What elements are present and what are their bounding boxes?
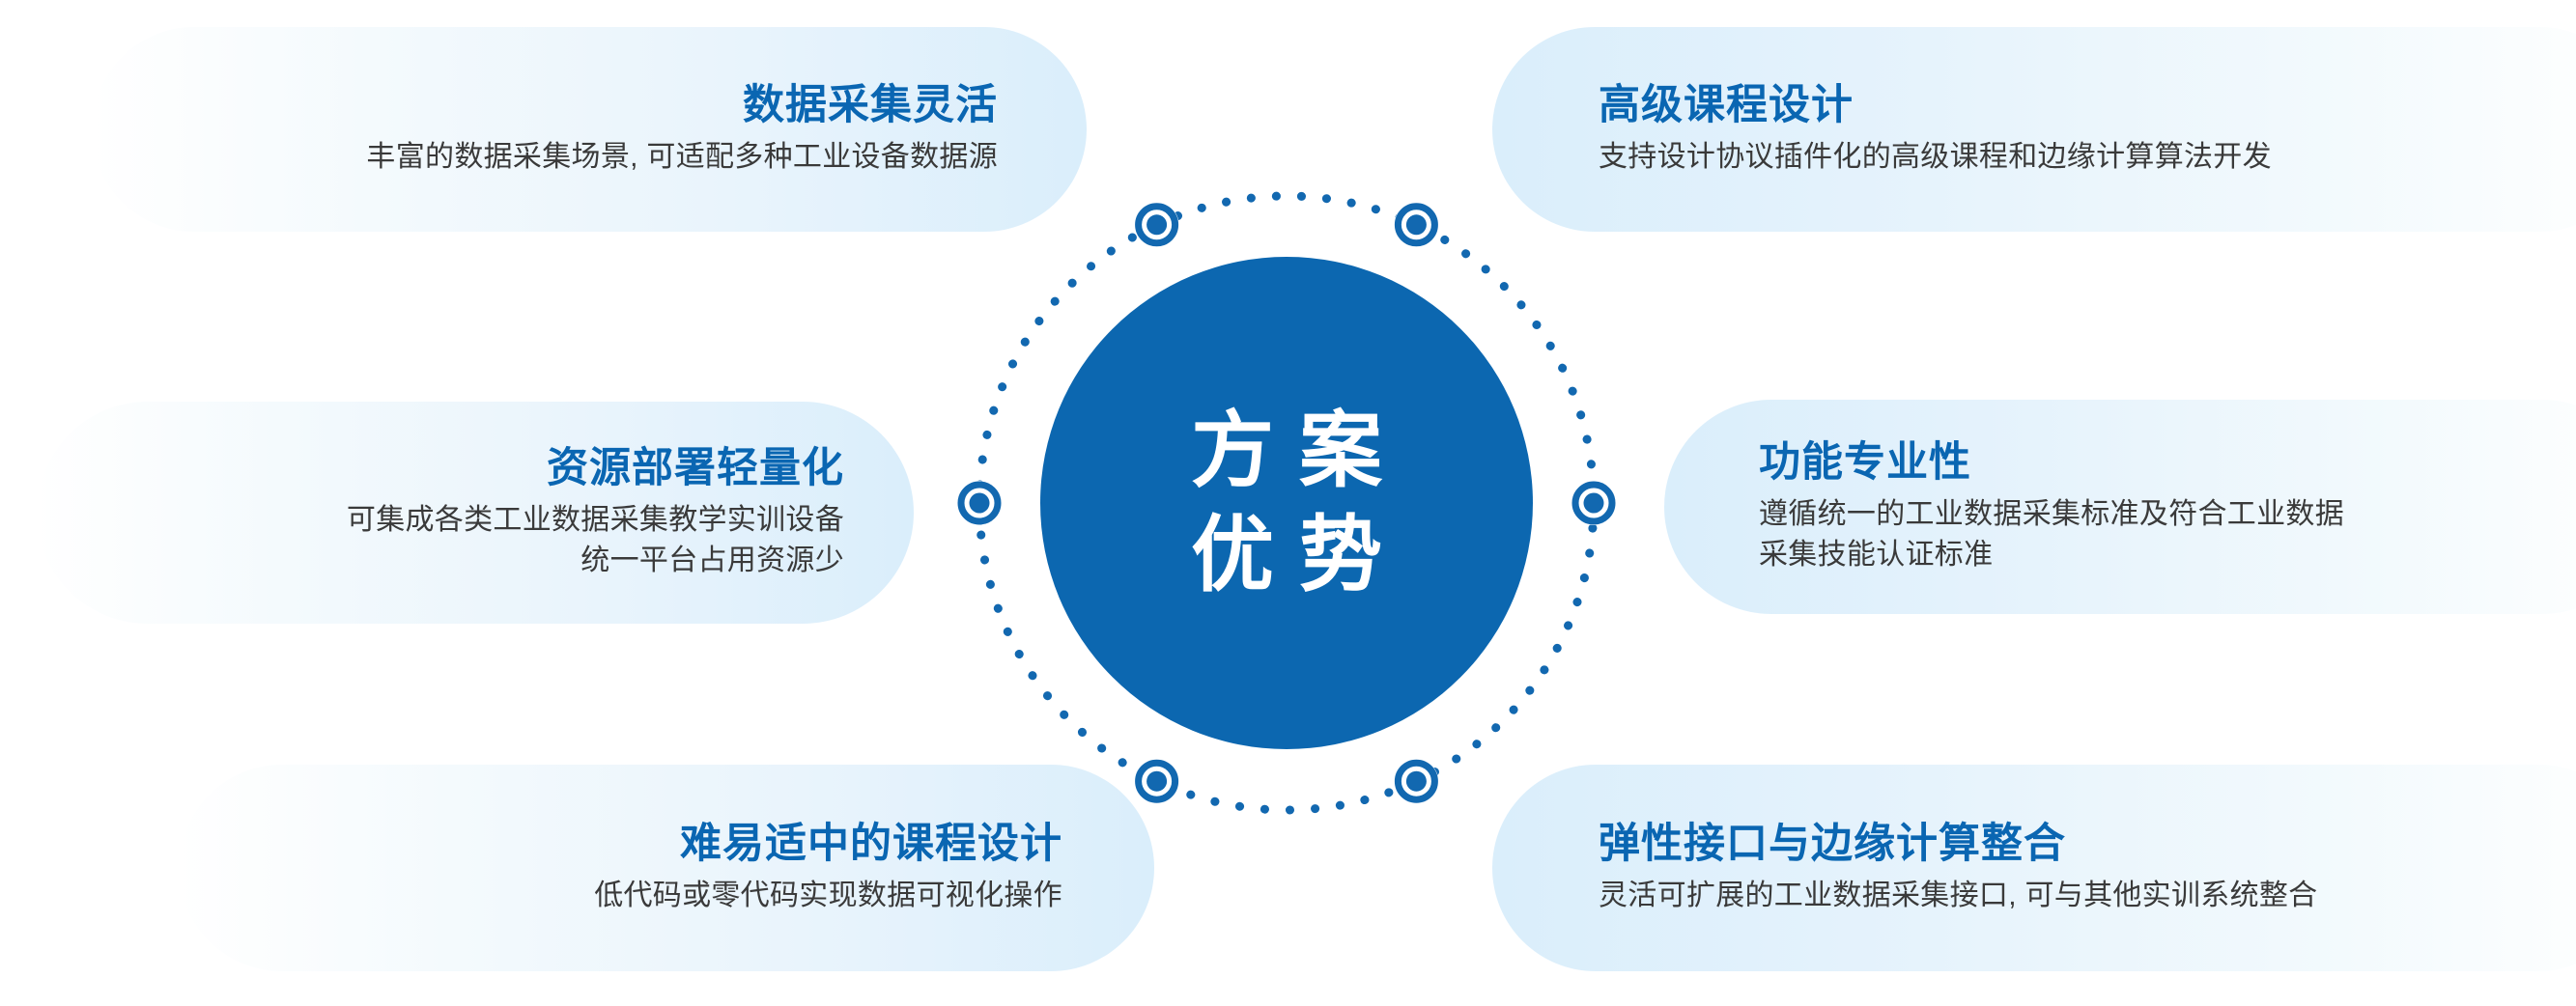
card-lightweight-resource-deployment[interactable]: 资源部署轻量化 可集成各类工业数据采集教学实训设备 统一平台占用资源少 [37, 402, 914, 624]
card-desc-line: 可集成各类工业数据采集教学实训设备 [347, 500, 844, 542]
node-bottom-left-dot[interactable] [1146, 771, 1167, 792]
card-desc-line: 丰富的数据采集场景, 可适配多种工业设备数据源 [366, 137, 998, 179]
card-title: 高级课程设计 [1599, 80, 1854, 130]
card-title: 数据采集灵活 [743, 80, 998, 130]
node-top-left-dot[interactable] [1146, 214, 1167, 235]
card-title: 资源部署轻量化 [547, 443, 844, 493]
solution-advantages-diagram: 数据采集灵活 丰富的数据采集场景, 可适配多种工业设备数据源 高级课程设计 支持… [0, 0, 2576, 1006]
card-title: 功能专业性 [1759, 437, 1971, 488]
center-circle: 方案 优势 [1040, 257, 1533, 749]
card-advanced-course-design[interactable]: 高级课程设计 支持设计协议插件化的高级课程和边缘计算算法开发 [1492, 27, 2576, 232]
node-right-dot[interactable] [1584, 493, 1604, 514]
card-desc-line: 灵活可扩展的工业数据采集接口, 可与其他实训系统整合 [1599, 876, 2317, 917]
card-desc-line: 遵循统一的工业数据采集标准及符合工业数据 [1759, 494, 2344, 536]
node-top-right-dot[interactable] [1406, 214, 1427, 235]
card-title: 弹性接口与边缘计算整合 [1599, 819, 2066, 869]
card-desc-line: 支持设计协议插件化的高级课程和边缘计算算法开发 [1599, 137, 2272, 179]
node-left-dot[interactable] [970, 493, 990, 514]
card-desc-line: 统一平台占用资源少 [580, 541, 844, 582]
card-desc-line: 采集技能认证标准 [1759, 535, 1993, 576]
card-desc-line: 低代码或零代码实现数据可视化操作 [594, 876, 1062, 917]
card-elastic-interface-edge-computing[interactable]: 弹性接口与边缘计算整合 灵活可扩展的工业数据采集接口, 可与其他实训系统整合 [1492, 765, 2576, 971]
card-data-collection-flexible[interactable]: 数据采集灵活 丰富的数据采集场景, 可适配多种工业设备数据源 [92, 27, 1087, 232]
card-functional-professionalism[interactable]: 功能专业性 遵循统一的工业数据采集标准及符合工业数据 采集技能认证标准 [1664, 400, 2576, 614]
center-label-line-1: 方案 [1166, 399, 1407, 503]
node-bottom-right-dot[interactable] [1406, 771, 1427, 792]
center-label-line-2: 优势 [1166, 503, 1407, 607]
